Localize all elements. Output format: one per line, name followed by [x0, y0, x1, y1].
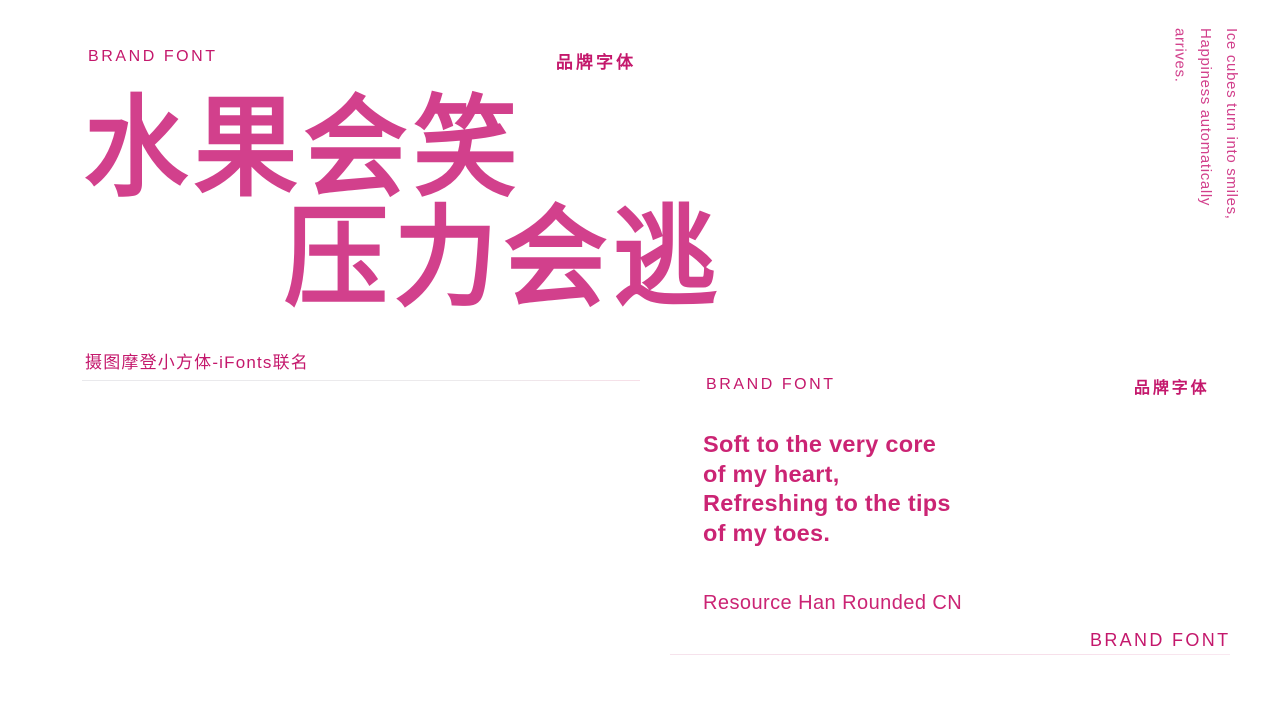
vertical-quote-line-1: Ice cubes turn into smiles, [1218, 28, 1244, 278]
vertical-quote-text: Ice cubes turn into smiles, Happiness au… [1167, 28, 1244, 278]
headline-line-two: 压力会逃 [284, 204, 723, 314]
brand-font-label-mid-right: BRAND FONT [706, 376, 836, 394]
vertical-quote-line-3: arrives. [1167, 28, 1193, 278]
brand-font-label-cn-top: 品牌字体 [556, 48, 636, 73]
font-name-label-right: Resource Han Rounded CN [703, 592, 962, 615]
body-copy-line-1: Soft to the very core [703, 430, 1033, 460]
brand-font-label-bottom-right: BRAND FONT [1090, 630, 1230, 651]
body-copy-text: Soft to the very core of my heart, Refre… [703, 430, 1033, 549]
headline-line-one: 水果会笑 [84, 94, 523, 204]
brand-font-label-cn-mid-right: 品牌字体 [1134, 374, 1210, 398]
font-name-label-left: 摄图摩登小方体-iFonts联名 [85, 348, 309, 373]
divider-right [670, 654, 1230, 655]
brand-font-label-top-left: BRAND FONT [88, 48, 218, 66]
body-copy-line-3: Refreshing to the tips [703, 489, 1033, 519]
body-copy-line-4: of my toes. [703, 519, 1033, 549]
body-copy-line-2: of my heart, [703, 460, 1033, 490]
divider-left [82, 380, 640, 381]
vertical-quote-line-2: Happiness automatically [1192, 28, 1218, 278]
